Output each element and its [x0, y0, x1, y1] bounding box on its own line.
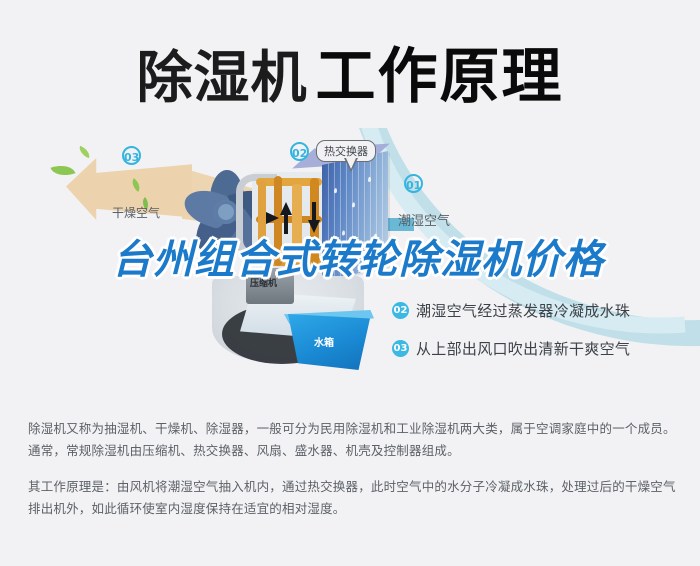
legend-label-02: 潮湿空气经过蒸发器冷凝成水珠 — [416, 300, 630, 321]
legend-list: 02 潮湿空气经过蒸发器冷凝成水珠 03 从上部出风口吹出清新干爽空气 — [392, 300, 692, 376]
legend-item: 02 潮湿空气经过蒸发器冷凝成水珠 — [392, 300, 692, 321]
legend-badge-03: 03 — [392, 340, 409, 357]
leaf-icon — [51, 161, 76, 180]
flow-arrow-stem — [312, 202, 316, 222]
leaf-icon — [77, 146, 92, 159]
page-title: 除湿机工作原理 — [0, 28, 700, 115]
callout-badge-01: 01 — [404, 174, 423, 193]
callout-label-humid-air: 潮湿空气 — [398, 210, 450, 229]
flow-arrow-down-icon — [308, 220, 320, 233]
callout-bubble-tail — [344, 158, 358, 172]
flow-arrow-right-icon — [266, 212, 279, 224]
body-paragraph-1: 除湿机又称为抽湿机、干燥机、除湿器，一般可分为民用除湿机和工业除湿机两大类，属于… — [28, 418, 676, 462]
legend-item: 03 从上部出风口吹出清新干爽空气 — [392, 338, 692, 359]
flow-arrow-up-icon — [280, 202, 292, 215]
legend-label-03: 从上部出风口吹出清新干爽空气 — [416, 338, 630, 359]
body-copy: 除湿机又称为抽湿机、干燥机、除湿器，一般可分为民用除湿机和工业除湿机两大类，属于… — [28, 418, 676, 526]
callout-badge-02: 02 — [290, 142, 309, 161]
body-paragraph-2: 其工作原理是：由风机将潮湿空气抽入机内，通过热交换器，此时空气中的水分子冷凝成水… — [28, 476, 676, 520]
water-tank-label: 水箱 — [314, 334, 334, 349]
coil-pipe — [258, 180, 266, 264]
page-root: 除湿机工作原理 01 潮湿空气 03 干燥空气 — [0, 0, 700, 566]
callout-badge-03: 03 — [122, 146, 141, 165]
page-title-part-a: 除湿机 — [137, 46, 308, 111]
coil-pipe — [292, 184, 302, 262]
compressor-label: 压缩机 — [250, 276, 277, 289]
legend-badge-02: 02 — [392, 302, 409, 319]
page-title-part-b: 工作原理 — [316, 42, 564, 112]
fan-hub — [214, 200, 238, 224]
flow-arrow-stem — [284, 212, 288, 234]
callout-label-dry-air: 干燥空气 — [112, 204, 160, 221]
